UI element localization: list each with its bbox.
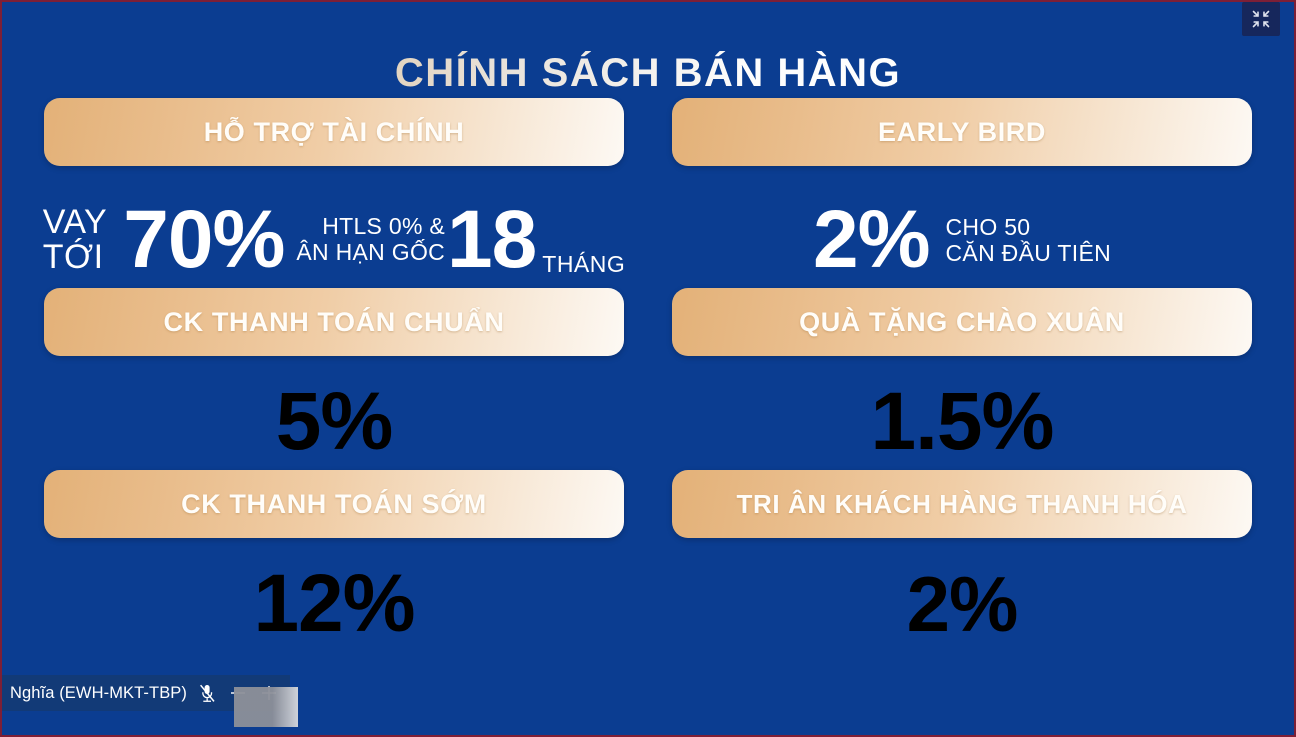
policy-block-early-payment: CK THANH TOÁN SỚM 12% — [44, 470, 624, 652]
policy-column-left: HỖ TRỢ TÀI CHÍNH VAY TỚI 70% HTLS 0% & Â… — [44, 98, 624, 652]
microphone-muted-icon[interactable]: muted — [196, 682, 218, 704]
policy-pill-thanh-hoa-customers[interactable]: TRI ÂN KHÁCH HÀNG THANH HÓA — [672, 470, 1252, 538]
participant-name-label: Nghĩa (EWH-MKT-TBP) — [10, 684, 187, 703]
policy-values-standard-payment: 5% — [44, 374, 624, 470]
policy-pill-label: TRI ÂN KHÁCH HÀNG THANH HÓA — [737, 489, 1188, 520]
page-title: CHÍNH SÁCH BÁN HÀNG — [2, 51, 1294, 95]
policy-values-early-bird: 2% CHO 50 CĂN ĐẦU TIÊN — [672, 192, 1252, 288]
loan-lead-text: VAY TỚI — [43, 205, 108, 274]
interest-support-line2: ÂN HẠN GỐC — [296, 240, 445, 266]
loan-percentage-value: 70% — [123, 199, 284, 281]
policy-block-standard-payment: CK THANH TOÁN CHUẨN 5% — [44, 288, 624, 470]
interest-support-line1: HTLS 0% & — [296, 214, 445, 240]
early-bird-discount-value: 2% — [813, 199, 930, 281]
thanh-hoa-discount-value: 2% — [907, 565, 1018, 643]
policy-pill-early-payment[interactable]: CK THANH TOÁN SỚM — [44, 470, 624, 538]
policy-block-early-bird: EARLY BIRD 2% CHO 50 CĂN ĐẦU TIÊN — [672, 98, 1252, 288]
policy-pill-label: HỖ TRỢ TÀI CHÍNH — [204, 117, 465, 148]
early-bird-condition-note: CHO 50 CĂN ĐẦU TIÊN — [946, 214, 1111, 266]
policy-pill-standard-payment[interactable]: CK THANH TOÁN CHUẨN — [44, 288, 624, 356]
months-unit-label: THÁNG — [542, 251, 625, 288]
loan-lead-line1: VAY — [43, 205, 108, 240]
policy-pill-label: CK THANH TOÁN CHUẨN — [164, 307, 505, 338]
presentation-slide: CHÍNH SÁCH BÁN HÀNG HỖ TRỢ TÀI CHÍNH VAY… — [2, 2, 1294, 735]
policy-values-early-payment: 12% — [44, 556, 624, 652]
policy-values-thanh-hoa-customers: 2% — [672, 556, 1252, 652]
policy-column-right: EARLY BIRD 2% CHO 50 CĂN ĐẦU TIÊN QUÀ TẶ… — [672, 98, 1252, 652]
early-bird-note-line1: CHO 50 — [946, 214, 1111, 240]
policy-pill-label: QUÀ TẶNG CHÀO XUÂN — [799, 307, 1125, 338]
meeting-screen-share: CHÍNH SÁCH BÁN HÀNG HỖ TRỢ TÀI CHÍNH VAY… — [0, 0, 1296, 737]
early-payment-discount-value: 12% — [253, 563, 414, 645]
exit-fullscreen-icon — [1251, 9, 1271, 29]
policy-pill-label: EARLY BIRD — [878, 117, 1046, 148]
zoom-control-handle[interactable] — [234, 687, 298, 727]
policy-values-financial-support: VAY TỚI 70% HTLS 0% & ÂN HẠN GỐC 18 THÁN… — [44, 192, 624, 288]
spring-gift-discount-value: 1.5% — [871, 381, 1054, 463]
policy-block-thanh-hoa-customers: TRI ÂN KHÁCH HÀNG THANH HÓA 2% — [672, 470, 1252, 652]
policy-block-financial-support: HỖ TRỢ TÀI CHÍNH VAY TỚI 70% HTLS 0% & Â… — [44, 98, 624, 288]
policy-values-spring-gift: 1.5% — [672, 374, 1252, 470]
early-bird-note-line2: CĂN ĐẦU TIÊN — [946, 240, 1111, 266]
loan-lead-line2: TỚI — [43, 240, 108, 275]
policy-pill-label: CK THANH TOÁN SỚM — [181, 489, 487, 520]
standard-payment-discount-value: 5% — [276, 381, 393, 463]
policy-pill-early-bird[interactable]: EARLY BIRD — [672, 98, 1252, 166]
policy-block-spring-gift: QUÀ TẶNG CHÀO XUÂN 1.5% — [672, 288, 1252, 470]
interest-support-note: HTLS 0% & ÂN HẠN GỐC — [296, 214, 445, 266]
policy-pill-financial-support[interactable]: HỖ TRỢ TÀI CHÍNH — [44, 98, 624, 166]
exit-fullscreen-button[interactable] — [1242, 2, 1280, 36]
policy-pill-spring-gift[interactable]: QUÀ TẶNG CHÀO XUÂN — [672, 288, 1252, 356]
grace-period-months-value: 18 — [447, 199, 536, 281]
